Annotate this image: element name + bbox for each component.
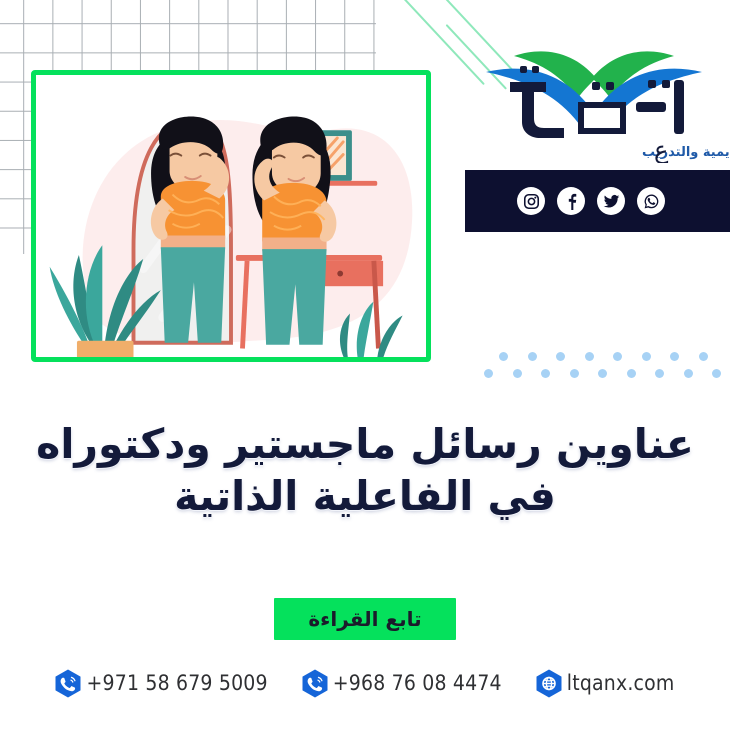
dot <box>699 352 708 361</box>
contact-phone-oman-value: +968 76 08 4474 <box>333 671 502 695</box>
logo-graphic: للاستشارات الأكاديمية والتدريب ع <box>466 18 730 163</box>
twitter-icon <box>603 193 620 210</box>
headline-line-2: في الفاعلية الذاتية <box>35 470 695 522</box>
headline-line-1: عناوين رسائل ماجستير ودكتوراه <box>35 418 695 470</box>
instagram-icon <box>523 193 540 210</box>
social-link-whatsapp[interactable] <box>637 187 665 215</box>
cta-container: تابع القراءة <box>0 598 730 640</box>
phone-icon <box>55 669 81 698</box>
dot <box>627 369 636 378</box>
contact-phone-uae[interactable]: +971 58 679 5009 <box>55 669 267 698</box>
social-link-instagram[interactable] <box>517 187 545 215</box>
phone-icon <box>302 669 328 698</box>
contact-website[interactable]: ltqanx.com <box>536 669 675 698</box>
dot <box>528 352 537 361</box>
social-link-twitter[interactable] <box>597 187 625 215</box>
poster-canvas: للاستشارات الأكاديمية والتدريب ع <box>0 0 730 730</box>
contact-phone-oman[interactable]: +968 76 08 4474 <box>302 669 502 698</box>
brand-logo: للاستشارات الأكاديمية والتدريب ع <box>466 18 730 163</box>
facebook-icon <box>563 193 580 210</box>
social-link-facebook[interactable] <box>557 187 585 215</box>
dot <box>655 369 664 378</box>
contact-footer: +971 58 679 5009 +968 76 08 4474 ltqanx.… <box>0 658 730 708</box>
continue-reading-button[interactable]: تابع القراءة <box>274 598 455 640</box>
dot <box>712 369 721 378</box>
dot <box>570 369 579 378</box>
dot <box>598 369 607 378</box>
illustration-graphic <box>36 75 426 357</box>
globe-icon <box>536 669 562 698</box>
dot <box>684 369 693 378</box>
social-media-bar <box>465 170 730 232</box>
dot <box>613 352 622 361</box>
dot <box>585 352 594 361</box>
dot <box>541 369 550 378</box>
dot <box>484 369 493 378</box>
logo-accent-glyph: ع <box>654 136 669 163</box>
dot <box>670 352 679 361</box>
dot <box>513 369 522 378</box>
dot <box>642 352 651 361</box>
illustration-frame <box>31 70 431 362</box>
contact-website-value: ltqanx.com <box>567 671 675 695</box>
dots-decoration <box>487 352 725 382</box>
whatsapp-icon <box>643 193 660 210</box>
dot <box>499 352 508 361</box>
dot <box>556 352 565 361</box>
page-title: عناوين رسائل ماجستير ودكتوراه في الفاعلي… <box>0 418 730 523</box>
contact-phone-uae-value: +971 58 679 5009 <box>86 671 267 695</box>
